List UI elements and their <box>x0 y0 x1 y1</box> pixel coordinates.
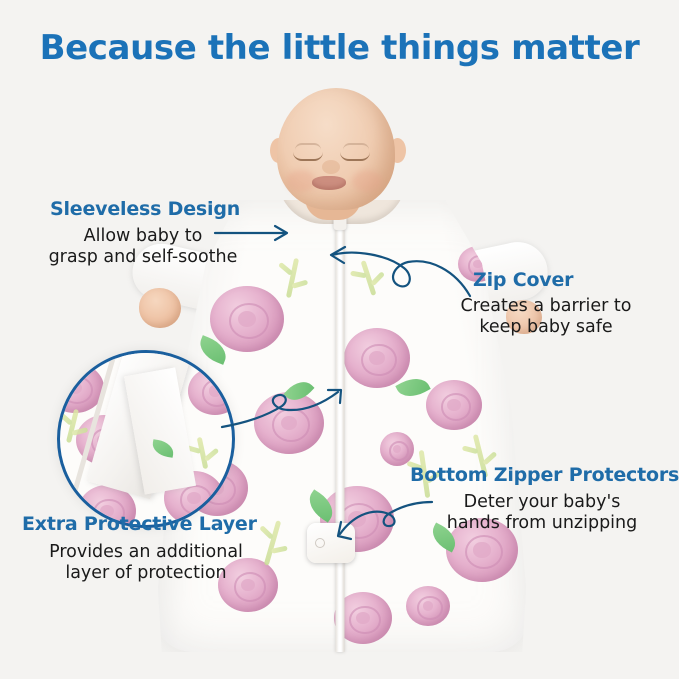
zipper-tab-hole <box>315 538 325 548</box>
extra-protective-layer-zoom-inset <box>57 350 235 528</box>
rose-motif <box>406 586 450 626</box>
callout-body-sleeveless-design: Allow baby to grasp and self-soothe <box>28 226 258 268</box>
rose-motif <box>426 380 482 430</box>
product-infographic: Because the little things matter <box>0 0 679 679</box>
callout-body-zip-cover: Creates a barrier to keep baby safe <box>428 296 664 338</box>
center-zipper <box>335 200 344 652</box>
callout-body-bottom-zipper-protectors: Deter your baby's hands from unzipping <box>420 492 664 534</box>
baby-right-cheek <box>352 170 382 192</box>
baby-left-hand <box>139 288 181 328</box>
zoom-inset-content <box>60 353 232 525</box>
fern-motif <box>197 437 209 469</box>
callout-title-extra-protective-layer: Extra Protective Layer <box>22 513 257 535</box>
baby-nose <box>322 160 340 174</box>
callout-body-extra-protective-layer: Provides an additional layer of protecti… <box>20 542 272 584</box>
rose-motif <box>344 328 410 388</box>
callout-title-zip-cover: Zip Cover <box>473 269 573 291</box>
baby-right-eye <box>340 152 370 161</box>
baby-right-eyebrow <box>343 143 369 150</box>
baby-left-eye <box>293 152 323 161</box>
baby-mouth <box>312 176 346 190</box>
rose-motif <box>254 392 324 454</box>
rose-motif <box>210 286 284 352</box>
callout-title-sleeveless-design: Sleeveless Design <box>50 198 240 220</box>
callout-title-bottom-zipper-protectors: Bottom Zipper Protectors <box>410 464 679 486</box>
baby-left-eyebrow <box>295 143 321 150</box>
rose-motif <box>188 367 235 415</box>
